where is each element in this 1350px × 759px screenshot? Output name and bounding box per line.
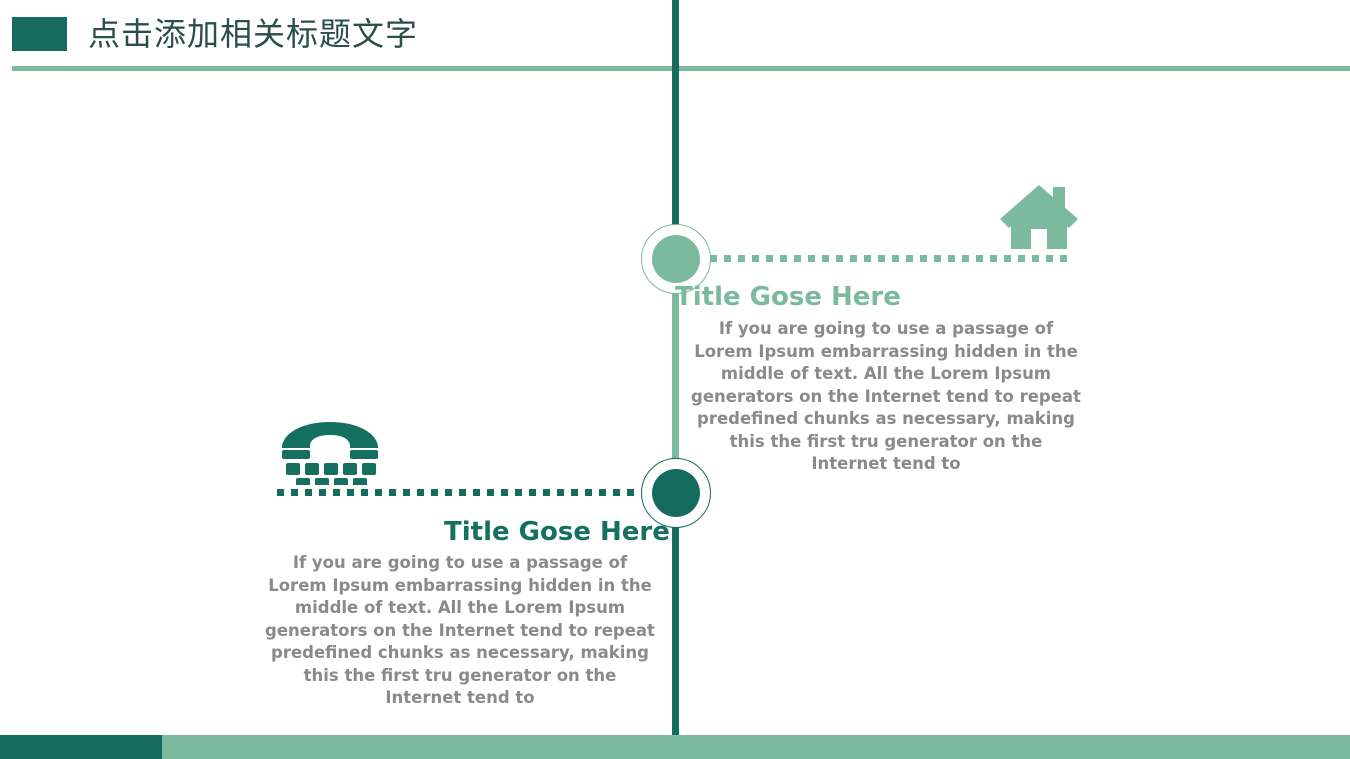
timeline-spine-upper bbox=[672, 0, 679, 240]
telephone-icon bbox=[280, 422, 380, 485]
footer-bar-left bbox=[0, 735, 162, 759]
slide-canvas: 点击添加相关标题文字 Title Gose bbox=[0, 0, 1350, 759]
connector-dotted-bottom bbox=[277, 489, 645, 496]
block-title-top: Title Gose Here bbox=[675, 282, 901, 312]
square-marker-icon bbox=[12, 17, 67, 51]
footer-bar-right bbox=[162, 735, 1350, 759]
connector-dotted-top bbox=[710, 255, 1072, 262]
block-body-bottom: If you are going to use a passage of Lor… bbox=[264, 552, 656, 710]
timeline-node-bottom-dot[interactable] bbox=[652, 469, 700, 517]
home-icon bbox=[999, 183, 1079, 249]
page-title: 点击添加相关标题文字 bbox=[88, 10, 418, 58]
header-divider bbox=[12, 66, 1350, 71]
block-body-top: If you are going to use a passage of Lor… bbox=[690, 318, 1082, 476]
block-title-bottom: Title Gose Here bbox=[444, 517, 670, 547]
timeline-node-top-dot[interactable] bbox=[652, 235, 700, 283]
timeline-spine-lower bbox=[672, 490, 679, 759]
